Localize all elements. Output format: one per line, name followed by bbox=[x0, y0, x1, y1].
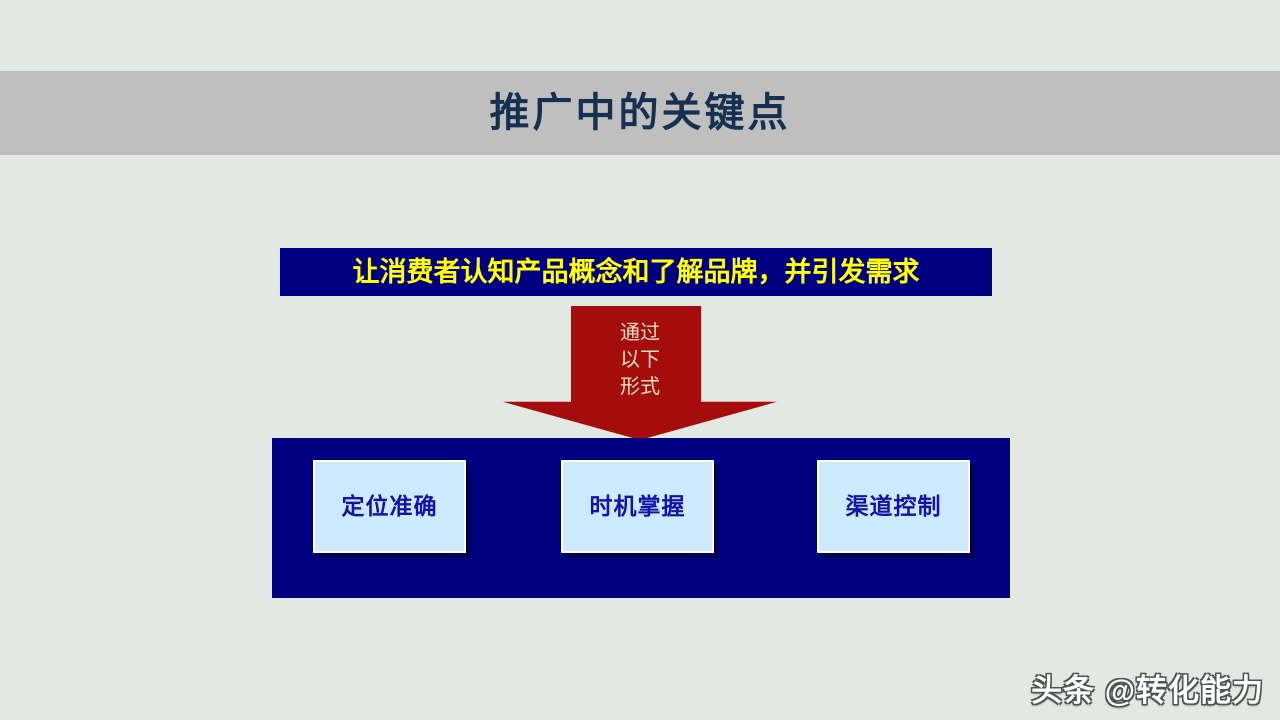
down-arrow-label-line-3: 形式 bbox=[503, 374, 777, 401]
down-arrow-label-line-1: 通过 bbox=[503, 320, 777, 347]
key-point-box-timing[interactable]: 时机掌握 bbox=[561, 460, 714, 553]
key-points-panel: 定位准确 时机掌握 渠道控制 bbox=[272, 438, 1010, 598]
down-arrow-label-line-2: 以下 bbox=[503, 347, 777, 374]
page-title: 推广中的关键点 bbox=[490, 93, 791, 133]
key-point-box-channel[interactable]: 渠道控制 bbox=[817, 460, 970, 553]
key-point-label: 渠道控制 bbox=[846, 495, 942, 518]
key-points-row: 定位准确 时机掌握 渠道控制 bbox=[272, 438, 1010, 598]
down-arrow: 通过 以下 形式 bbox=[503, 306, 777, 440]
slide-canvas: 推广中的关键点 让消费者认知产品概念和了解品牌，并引发需求 通过 以下 形式 定… bbox=[0, 0, 1280, 720]
key-point-label: 定位准确 bbox=[342, 495, 438, 518]
title-band: 推广中的关键点 bbox=[0, 71, 1280, 155]
down-arrow-label: 通过 以下 形式 bbox=[503, 320, 777, 401]
headline-text: 让消费者认知产品概念和了解品牌，并引发需求 bbox=[353, 259, 920, 286]
headline-banner: 让消费者认知产品概念和了解品牌，并引发需求 bbox=[280, 248, 992, 296]
key-point-label: 时机掌握 bbox=[590, 495, 686, 518]
key-point-box-positioning[interactable]: 定位准确 bbox=[313, 460, 466, 553]
watermark: 头条 @转化能力 bbox=[1031, 675, 1264, 706]
